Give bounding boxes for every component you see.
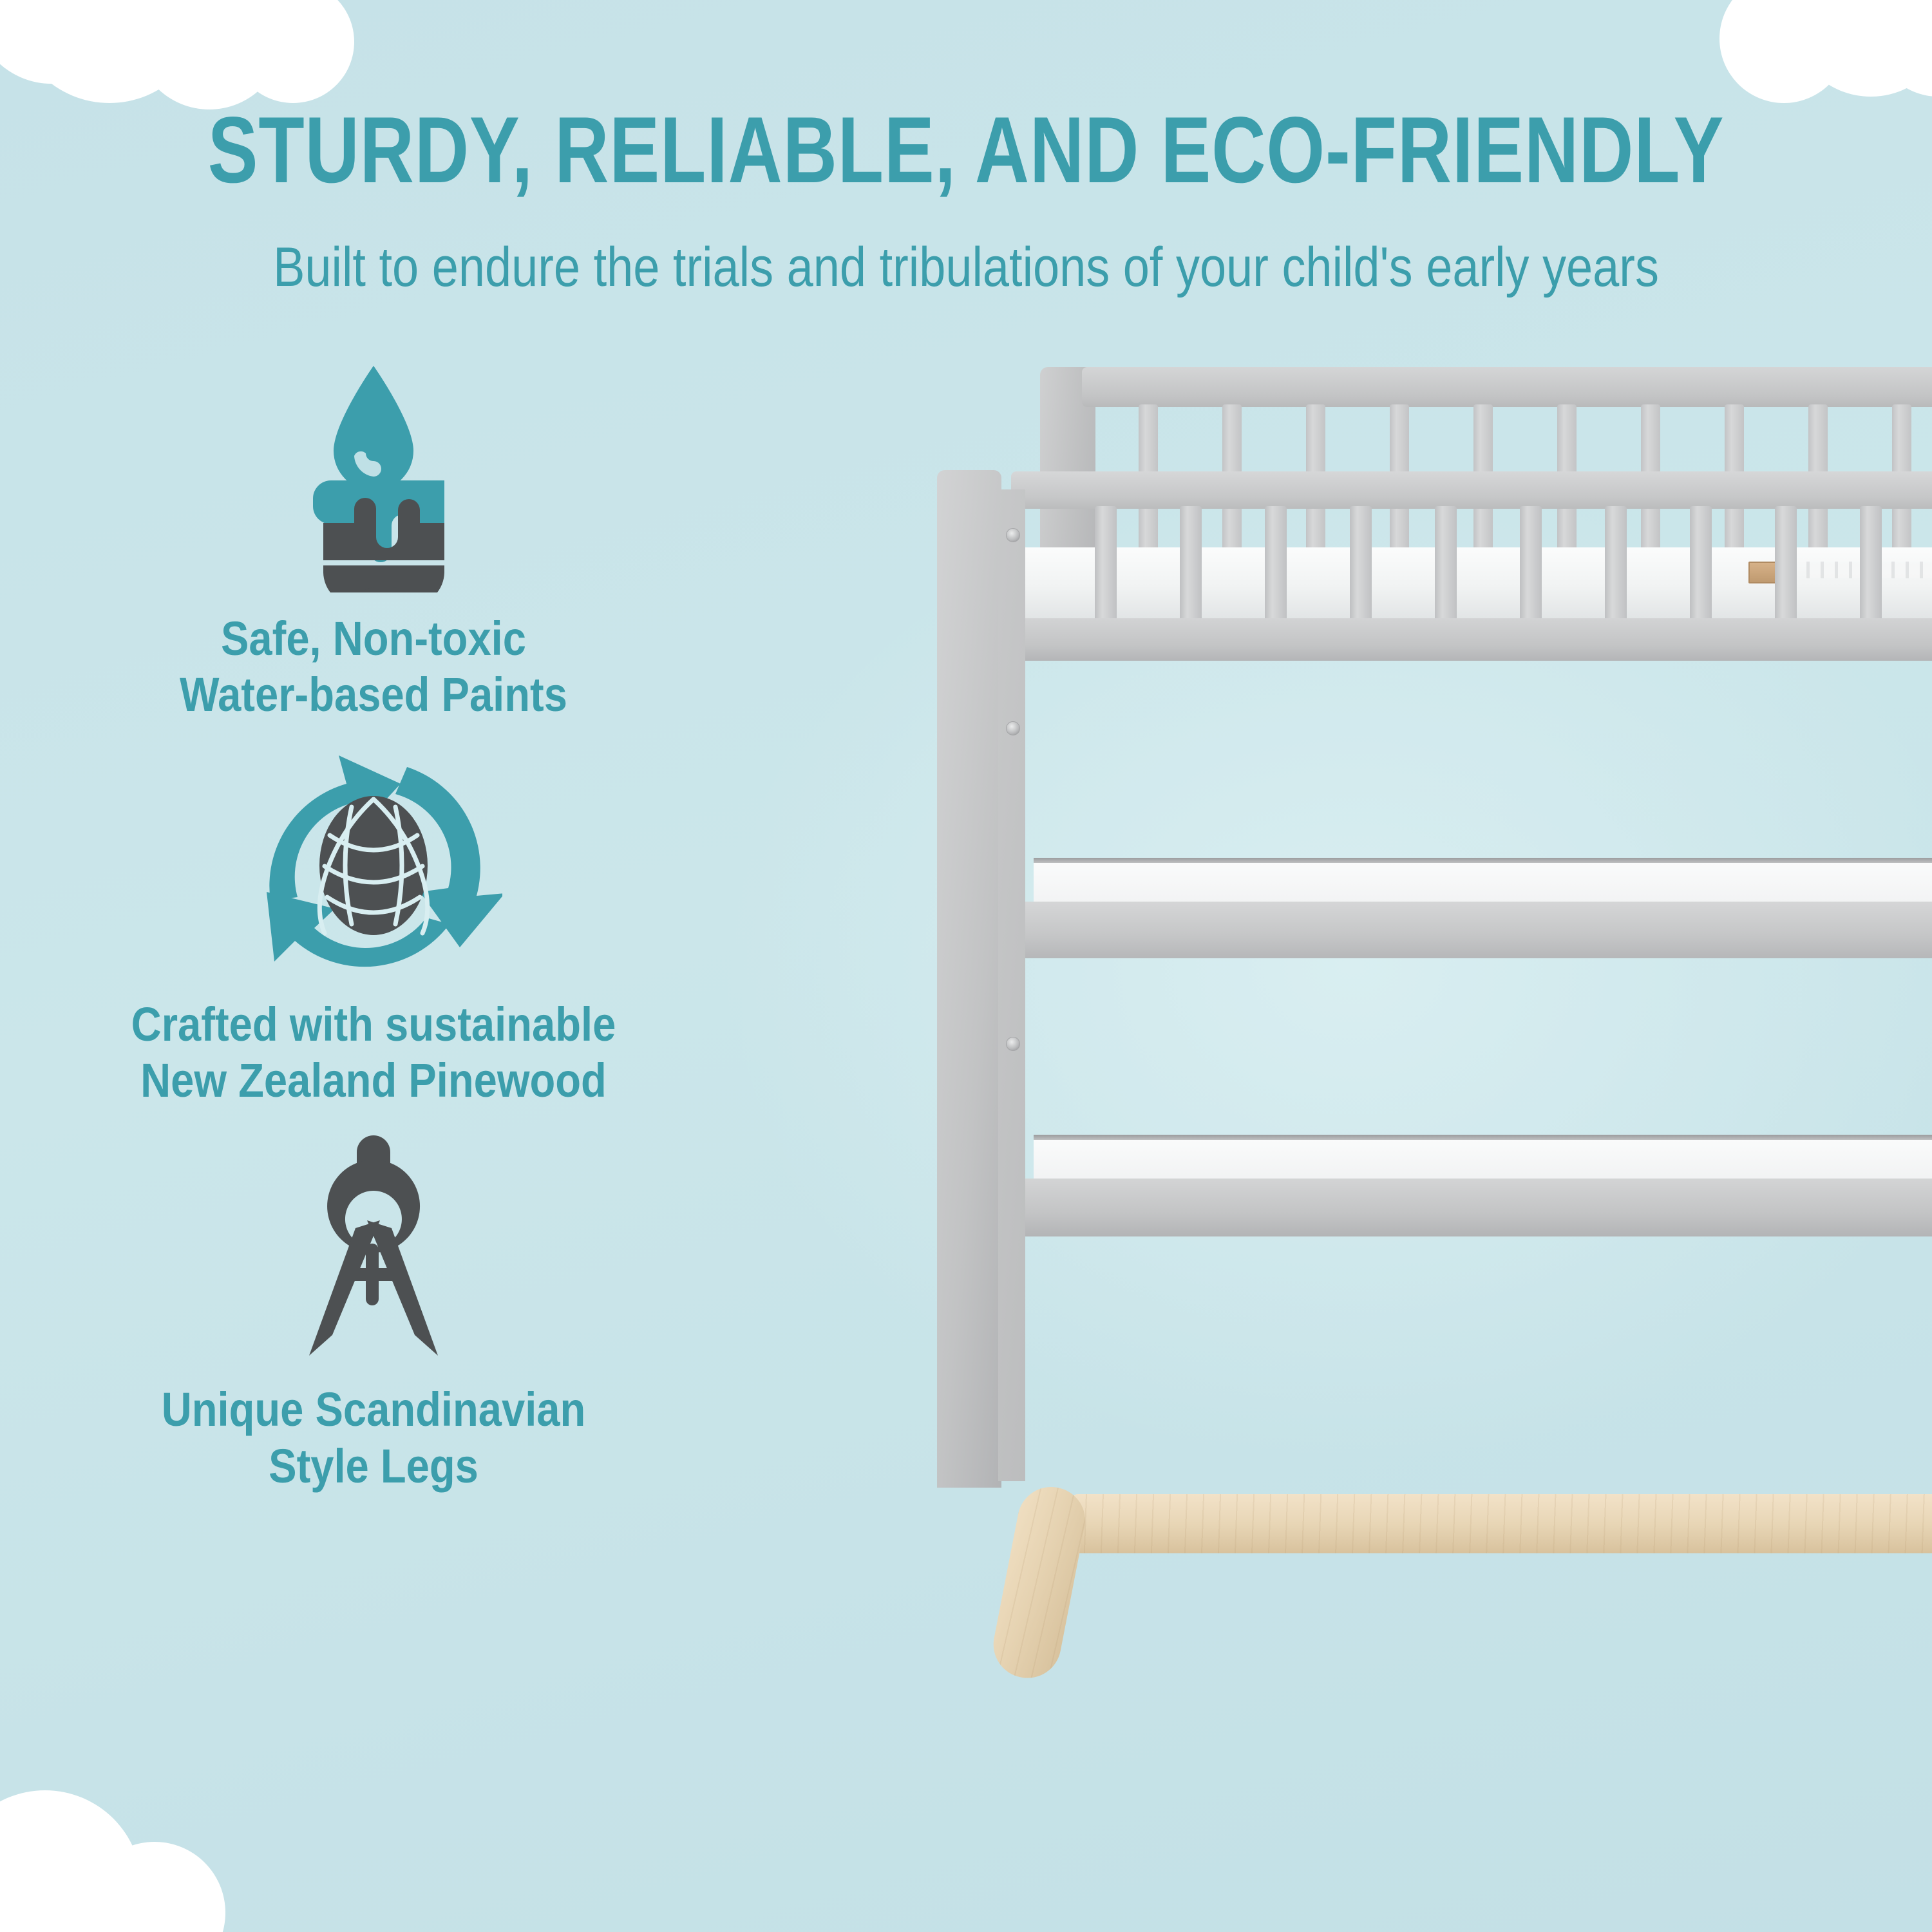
recycle-pinecone-icon <box>0 734 747 991</box>
feature-list: Safe, Non-toxic Water-based Paints <box>0 348 747 1504</box>
page-subtitle: Built to endure the trials and tribulati… <box>135 240 1797 295</box>
upper-guard-top-rail <box>1082 367 1932 407</box>
front-guard-spindle <box>1860 506 1882 635</box>
feature-label: Crafted with sustainable New Zealand Pin… <box>45 996 703 1109</box>
pinewood-leg-foot <box>988 1481 1091 1684</box>
screw-head-icon <box>1006 1037 1020 1051</box>
feature-item-safe-paints: Safe, Non-toxic Water-based Paints <box>0 348 747 723</box>
page-title: STURDY, RELIABLE, AND ECO-FRIENDLY <box>193 103 1739 197</box>
drafting-compass-icon <box>0 1119 747 1376</box>
front-guard-spindle <box>1265 506 1287 635</box>
feature-item-sustainable-pinewood: Crafted with sustainable New Zealand Pin… <box>0 734 747 1109</box>
promo-graphic: STURDY, RELIABLE, AND ECO-FRIENDLY Built… <box>0 0 1932 1932</box>
front-guard-spindle <box>1775 506 1797 635</box>
mid-deck-rail <box>998 902 1932 958</box>
front-guard-spindle <box>1095 506 1117 635</box>
screw-head-icon <box>1006 721 1020 735</box>
product-image-bunk-bed <box>934 335 1932 1932</box>
feature-label: Unique Scandinavian Style Legs <box>45 1381 703 1494</box>
paintbrush-water-drop-icon <box>0 348 747 605</box>
front-guard-bottom-rail <box>1011 618 1932 661</box>
front-guard-spindle <box>1690 506 1712 635</box>
lower-deck-panel <box>1034 1140 1932 1181</box>
feature-item-scandinavian-legs: Unique Scandinavian Style Legs <box>0 1119 747 1494</box>
front-guard-top-rail <box>1011 471 1932 509</box>
front-inner-post <box>998 489 1025 1481</box>
front-corner-post <box>937 470 1001 1488</box>
mid-deck-panel <box>1034 863 1932 903</box>
front-guard-spindle <box>1520 506 1542 635</box>
feature-label: Safe, Non-toxic Water-based Paints <box>45 611 703 723</box>
lower-deck-rail <box>998 1179 1932 1236</box>
front-guard-spindle <box>1605 506 1627 635</box>
front-guard-spindle <box>1435 506 1457 635</box>
pinewood-leg-rail <box>1069 1494 1932 1553</box>
front-guard-spindle <box>1180 506 1202 635</box>
screw-head-icon <box>1006 528 1020 542</box>
front-guard-spindle <box>1350 506 1372 635</box>
